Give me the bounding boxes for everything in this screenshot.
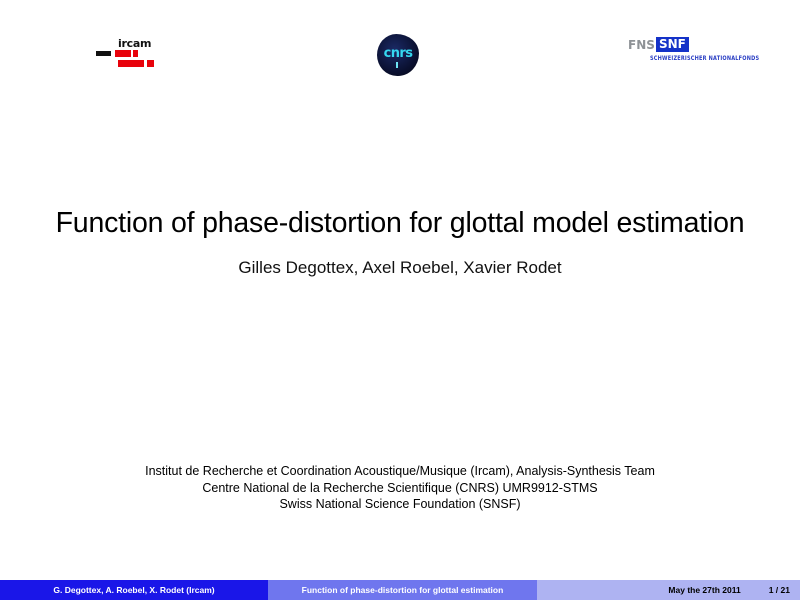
logo-strip: ircam cnrs FNS SNF SCHWEIZERISCHER NATIO… [0,26,800,86]
footer-authors: G. Degottex, A. Roebel, X. Rodet (Ircam) [0,580,268,600]
cnrs-dot-icon [396,62,398,68]
snsf-snf-wordmark: SNF [656,37,689,52]
ircam-logo: ircam [96,38,174,72]
snsf-subtitle: SCHWEIZERISCHER NATIONALFONDS [650,55,759,63]
snsf-logo: FNS SNF SCHWEIZERISCHER NATIONALFONDS [628,38,760,72]
ircam-accent-a-icon [115,50,131,57]
ircam-accent-c-icon [118,60,144,67]
page-title: Function of phase-distortion for glottal… [0,206,800,240]
ircam-bar-icon [96,51,111,56]
footer-page-number: 1 / 21 [769,585,790,595]
footer-meta: May the 27th 2011 1 / 21 [537,580,800,600]
cnrs-wordmark: cnrs [377,46,419,61]
snsf-fns-wordmark: FNS [628,38,655,52]
footer-short-title: Function of phase-distortion for glottal… [268,580,537,600]
affiliation-line: Institut de Recherche et Coordination Ac… [0,463,800,480]
affiliation-line: Swiss National Science Foundation (SNSF) [0,496,800,513]
footer-date: May the 27th 2011 [668,585,740,595]
title-block: Function of phase-distortion for glottal… [0,206,800,278]
slide-footer: G. Degottex, A. Roebel, X. Rodet (Ircam)… [0,580,800,600]
author-list: Gilles Degottex, Axel Roebel, Xavier Rod… [0,258,800,278]
affiliation-block: Institut de Recherche et Coordination Ac… [0,463,800,513]
ircam-accent-b-icon [133,50,138,57]
ircam-wordmark: ircam [118,38,151,49]
presentation-slide: ircam cnrs FNS SNF SCHWEIZERISCHER NATIO… [0,0,800,600]
affiliation-line: Centre National de la Recherche Scientif… [0,480,800,497]
ircam-accent-d-icon [147,60,154,67]
cnrs-logo: cnrs [377,34,421,78]
